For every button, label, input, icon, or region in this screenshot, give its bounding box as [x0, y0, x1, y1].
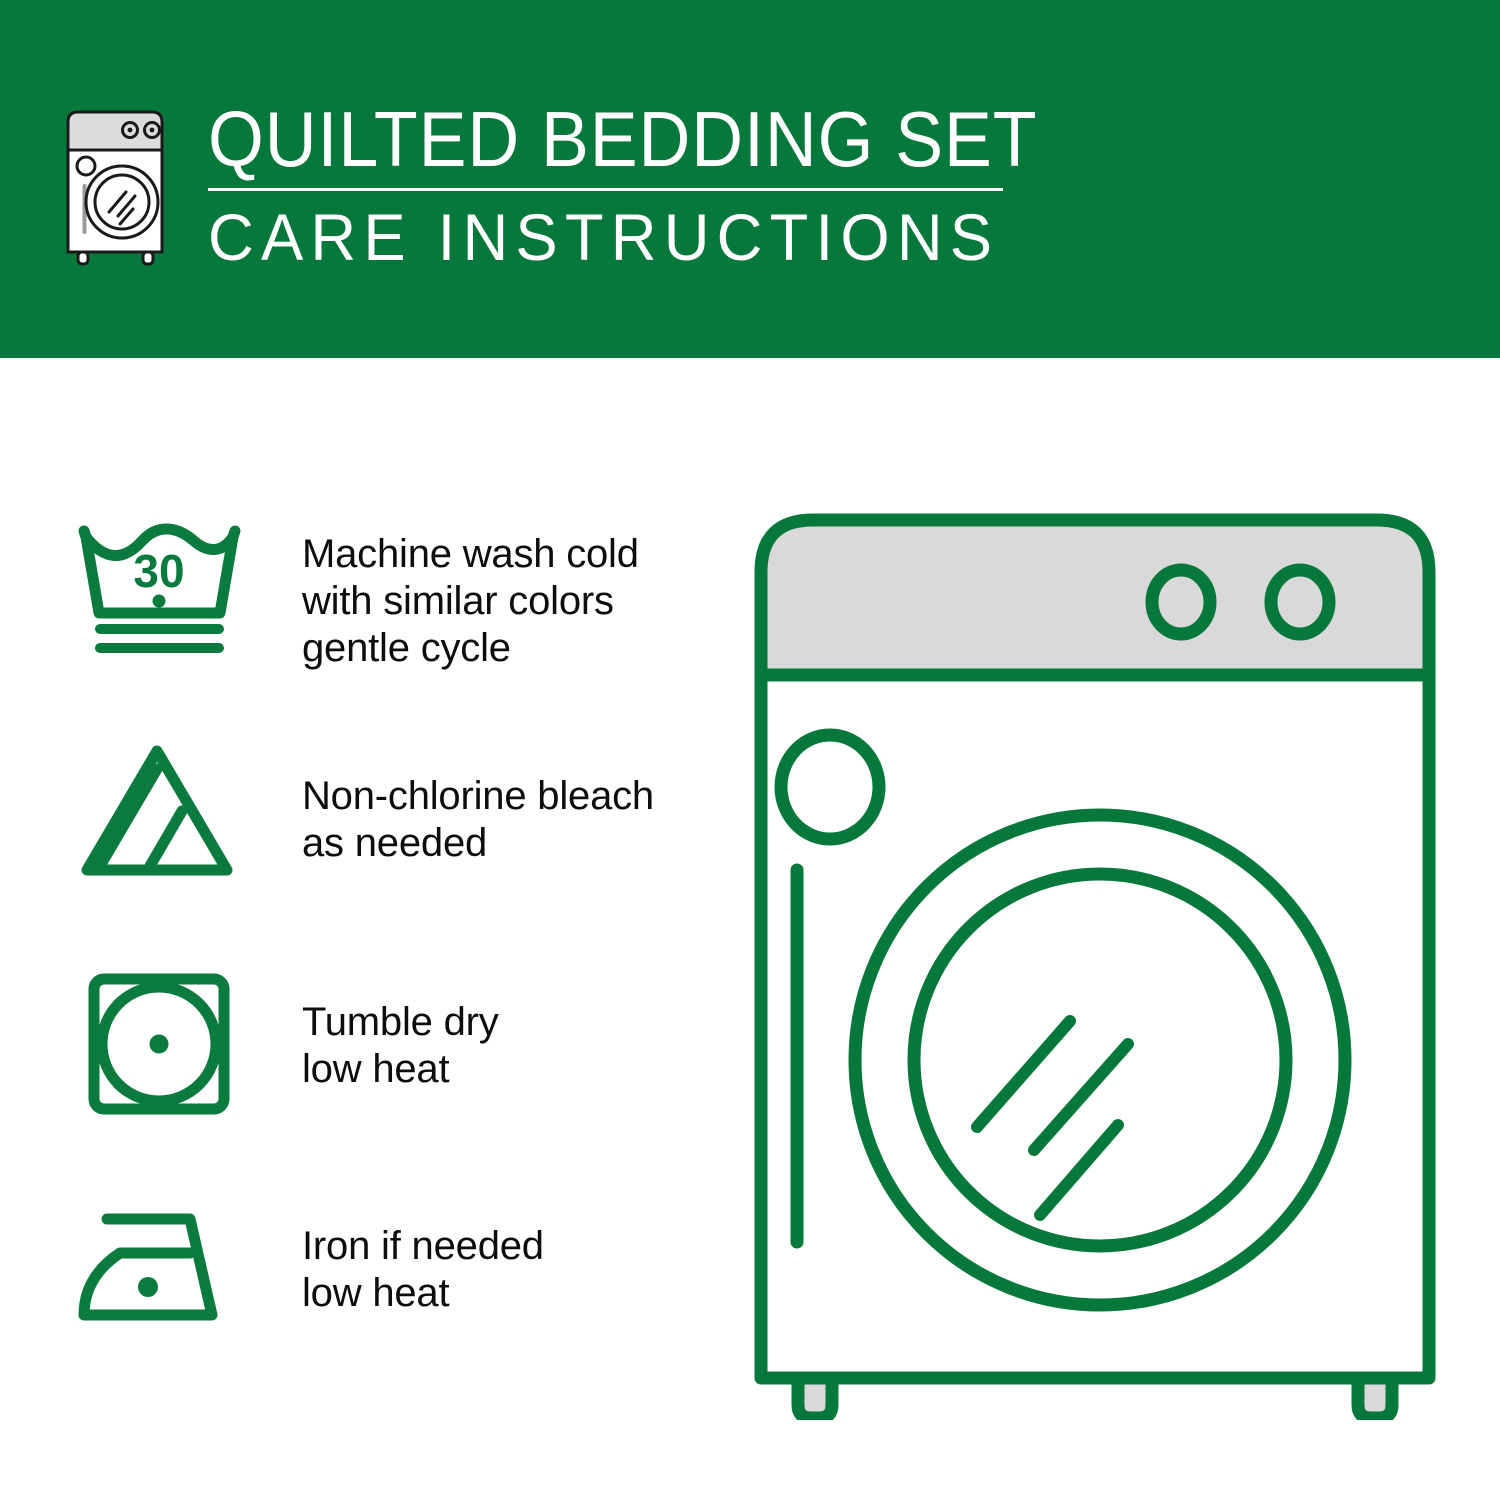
svg-text:30: 30 [133, 545, 184, 597]
title-divider [208, 188, 1003, 191]
care-instructions-infographic: QUILTED BEDDING SET CARE INSTRUCTIONS [0, 0, 1500, 1500]
care-item-bleach: Non-chlorine bleach as needed [72, 733, 712, 888]
header-content: QUILTED BEDDING SET CARE INSTRUCTIONS [60, 96, 1050, 276]
wash-tub-30-icon: 30 [72, 505, 247, 660]
care-item-tumble-dry: Tumble dry low heat [72, 967, 712, 1122]
care-item-label: Tumble dry low heat [302, 967, 499, 1093]
care-item-label: Non-chlorine bleach as needed [302, 733, 654, 867]
header-banner: QUILTED BEDDING SET CARE INSTRUCTIONS [0, 0, 1500, 358]
header-titles: QUILTED BEDDING SET CARE INSTRUCTIONS [208, 96, 1110, 273]
care-item-iron: Iron if needed low heat [72, 1195, 712, 1350]
page-title: QUILTED BEDDING SET [208, 98, 1038, 180]
care-item-label: Machine wash cold with similar colors ge… [302, 505, 639, 672]
page-subtitle: CARE INSTRUCTIONS [208, 201, 1074, 273]
tumble-dry-icon [72, 967, 247, 1122]
washing-machine-icon [60, 104, 180, 269]
washing-machine-illustration [740, 500, 1450, 1420]
care-item-machine-wash: 30 Machine wash cold with similar colors… [72, 505, 712, 672]
care-item-label: Iron if needed low heat [302, 1195, 544, 1317]
bleach-triangle-icon [72, 733, 247, 888]
iron-icon [72, 1195, 247, 1350]
